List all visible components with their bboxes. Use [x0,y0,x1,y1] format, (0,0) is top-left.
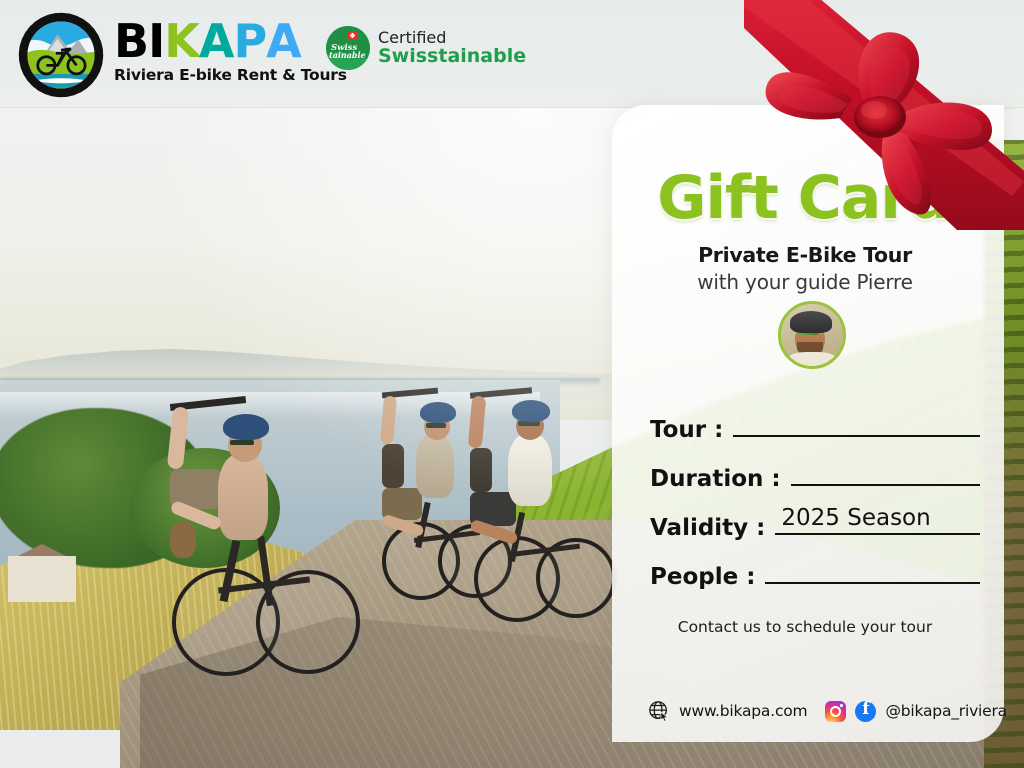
website-link[interactable]: www.bikapa.com [679,702,807,720]
swisstainable-badge-icon: Swiss tainable [326,26,370,70]
contact-note: Contact us to schedule your tour [612,618,998,636]
field-value: 2025 Season [781,505,930,531]
swisstainable-certification: Swiss tainable Certified Swisstainable [326,26,526,70]
swisstainable-label: Swisstainable [378,46,526,67]
field-tour: Tour : [650,411,980,443]
gift-card-fields: Tour : Duration : Validity : 2025 Season [650,411,980,607]
facebook-icon[interactable] [855,701,876,722]
brand-wordmark: BIKAPA Riviera E-bike Rent & Tours [114,18,347,84]
gift-card-poster: BIKAPA Riviera E-bike Rent & Tours Swiss… [0,0,1024,768]
field-duration: Duration : [650,460,980,492]
svg-text:tainable: tainable [329,50,366,60]
field-label: People : [650,564,755,590]
wordmark-letter: B [114,18,148,64]
wordmark-letter: P [233,18,266,64]
wordmark-letters: BIKAPA [114,18,347,64]
globe-cursor-icon [648,700,670,722]
avatar [778,301,846,369]
bikapa-logo-icon [18,12,104,98]
social-handle[interactable]: @bikapa_riviera [885,702,1007,720]
wordmark-letter: K [164,18,199,64]
red-gift-ribbon-bow [744,0,1024,230]
field-input-duration[interactable] [791,460,980,486]
certified-label: Certified [378,29,526,46]
wordmark-letter: A [266,18,301,64]
field-label: Validity : [650,515,765,541]
field-label: Tour : [650,417,723,443]
field-validity: Validity : 2025 Season [650,509,980,541]
card-footer: www.bikapa.com @bikapa_riviera [648,700,984,722]
wordmark-letter: A [199,18,234,64]
wordmark-letter: I [148,18,164,64]
brand-tagline: Riviera E-bike Rent & Tours [114,66,347,84]
field-input-people[interactable] [765,558,980,584]
card-subtitle-guide: with your guide Pierre [612,270,998,294]
field-input-tour[interactable] [733,411,980,437]
field-people: People : [650,558,980,590]
card-subtitle: Private E-Bike Tour [612,243,998,267]
instagram-icon[interactable] [825,701,846,722]
field-label: Duration : [650,466,781,492]
field-input-validity[interactable]: 2025 Season [775,509,980,535]
